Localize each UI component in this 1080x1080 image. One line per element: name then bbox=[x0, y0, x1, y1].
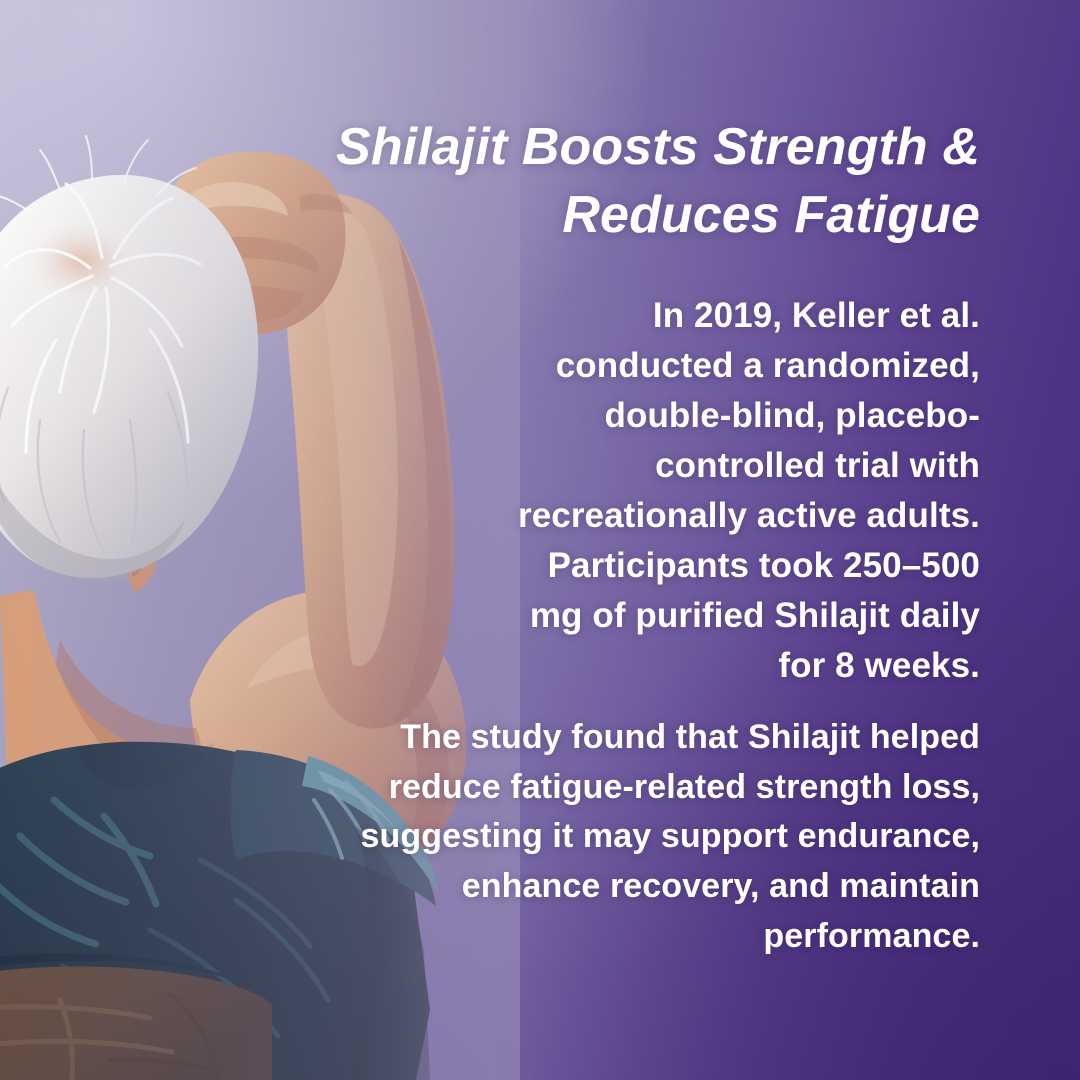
study-findings-paragraph: The study found that Shilajit helped red… bbox=[280, 713, 980, 961]
body-line: suggesting it may support endurance, bbox=[280, 812, 980, 862]
body-line: recreationally active adults. bbox=[460, 491, 980, 541]
body-line: for 8 weeks. bbox=[460, 641, 980, 691]
body-line: enhance recovery, and maintain bbox=[280, 862, 980, 912]
study-description-paragraph: In 2019, Keller et al. conducted a rando… bbox=[460, 291, 980, 691]
page-title: Shilajit Boosts Strength & Reduces Fatig… bbox=[220, 113, 980, 250]
body-line: double-blind, placebo- bbox=[460, 391, 980, 441]
body-line: mg of purified Shilajit daily bbox=[460, 591, 980, 641]
social-graphic-canvas: Shilajit Boosts Strength & Reduces Fatig… bbox=[0, 0, 1080, 1080]
body-line: In 2019, Keller et al. bbox=[460, 291, 980, 341]
body-line: Participants took 250–500 bbox=[460, 541, 980, 591]
title-line: Shilajit Boosts Strength & bbox=[220, 113, 980, 182]
body-line: The study found that Shilajit helped bbox=[280, 713, 980, 763]
body-line: controlled trial with bbox=[460, 441, 980, 491]
trousers bbox=[0, 953, 272, 1080]
body-line: performance. bbox=[280, 912, 980, 962]
body-line: reduce fatigue-related strength loss, bbox=[280, 763, 980, 813]
title-line: Reduces Fatigue bbox=[220, 181, 980, 250]
body-line: conducted a randomized, bbox=[460, 341, 980, 391]
